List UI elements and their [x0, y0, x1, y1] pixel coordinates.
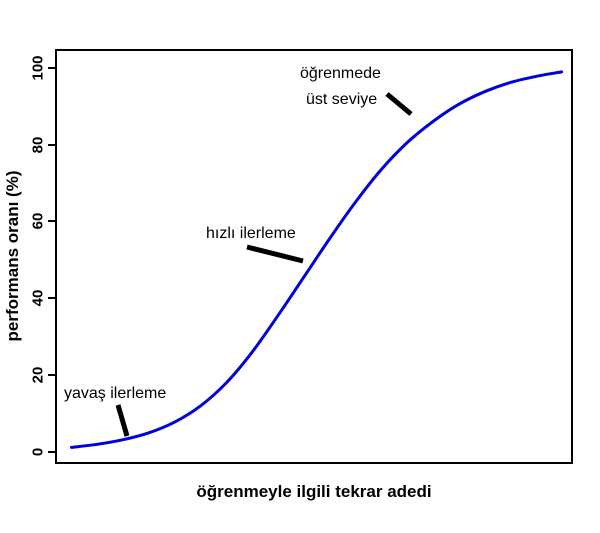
annotation-slow-progress-label: yavaş ilerleme: [64, 385, 166, 402]
annotation-fast-progress: hızlı ilerleme: [206, 225, 303, 261]
y-tick-label-0: 0: [30, 448, 47, 456]
annotation-slow-progress-pointer: [118, 405, 127, 436]
learning-curve-figure: 100 80 60 40 20 0 performans oranı (%) ö…: [0, 0, 600, 533]
annotation-upper-level-line2: üst seviye: [306, 91, 377, 108]
y-tick-label-80: 80: [30, 137, 47, 154]
annotation-upper-level-line1: öğrenmede: [300, 65, 381, 82]
annotation-slow-progress: yavaş ilerleme: [64, 385, 166, 436]
y-tick-label-20: 20: [30, 367, 47, 384]
y-axis-title: performans oranı (%): [3, 171, 22, 342]
y-tick-label-100: 100: [30, 55, 47, 80]
x-axis-title: öğrenmeyle ilgili tekrar adedi: [196, 482, 431, 501]
annotation-fast-progress-label: hızlı ilerleme: [206, 225, 296, 242]
y-axis-ticks: [48, 68, 56, 452]
y-axis-tick-labels: 100 80 60 40 20 0: [30, 55, 47, 456]
y-tick-label-40: 40: [30, 290, 47, 307]
annotation-upper-level-pointer: [387, 94, 411, 114]
y-tick-label-60: 60: [30, 213, 47, 230]
annotation-upper-level: öğrenmede üst seviye: [300, 65, 411, 114]
chart-canvas: 100 80 60 40 20 0 performans oranı (%) ö…: [0, 0, 600, 533]
annotation-fast-progress-pointer: [247, 247, 303, 261]
